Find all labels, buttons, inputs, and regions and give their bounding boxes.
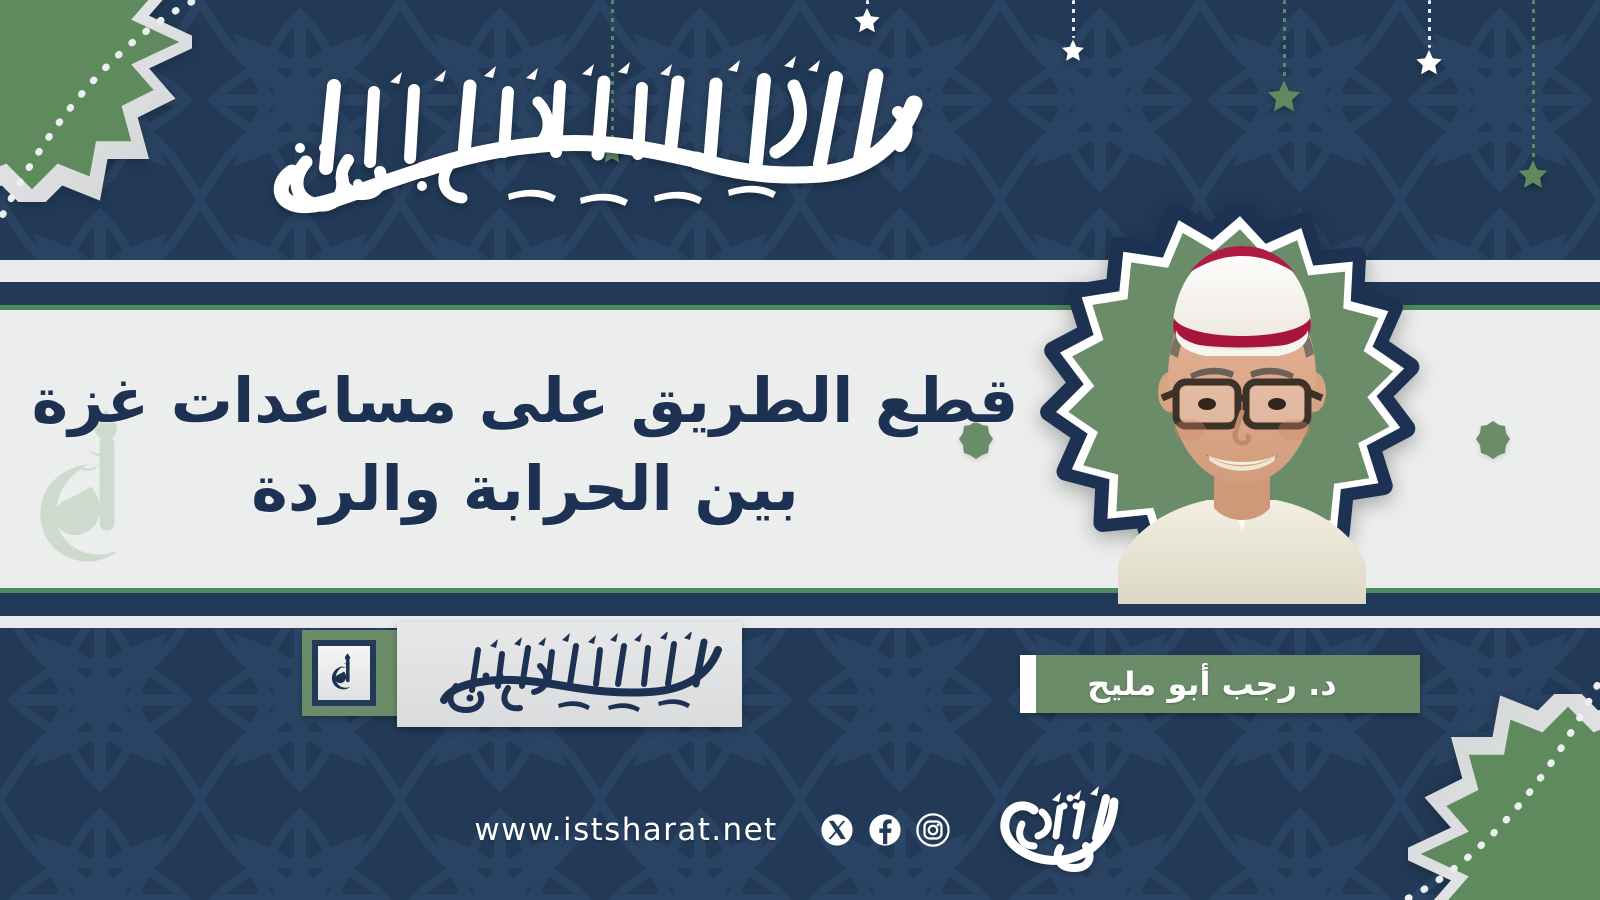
poster-canvas: قطع الطريق على مساعدات غزة بين الحرابة و… xyxy=(0,0,1600,900)
category-calligraphy-plate xyxy=(397,622,742,727)
crescent-minaret-icon xyxy=(318,646,370,700)
header-calligraphy xyxy=(208,52,928,227)
speaker-badge-accent-tab xyxy=(1020,655,1036,713)
title-line-1: قطع الطريق على مساعدات غزة xyxy=(32,357,1019,445)
facebook-icon[interactable] xyxy=(868,813,902,847)
corner-rosette-top-left xyxy=(0,0,192,206)
footer-bar: www.istsharat.net xyxy=(0,775,1600,885)
brand-calligraphy-logo xyxy=(986,784,1126,876)
website-url[interactable]: www.istsharat.net xyxy=(474,812,777,848)
panel-ornament-right xyxy=(1475,420,1511,460)
category-calligraphy xyxy=(412,632,727,718)
category-logo-frame xyxy=(312,640,376,706)
title-line-2: بين الحرابة والردة xyxy=(251,445,799,533)
x-twitter-icon[interactable] xyxy=(820,813,854,847)
portrait-photo xyxy=(1118,232,1366,604)
speaker-name-badge: د. رجب أبو مليح xyxy=(1020,655,1420,713)
category-badge xyxy=(302,622,742,727)
instagram-icon[interactable] xyxy=(916,813,950,847)
speaker-name: د. رجب أبو مليح xyxy=(1087,665,1336,703)
social-links[interactable] xyxy=(820,813,950,847)
main-title: قطع الطريق على مساعدات غزة بين الحرابة و… xyxy=(60,300,990,590)
band-light-bottom xyxy=(0,616,1600,628)
